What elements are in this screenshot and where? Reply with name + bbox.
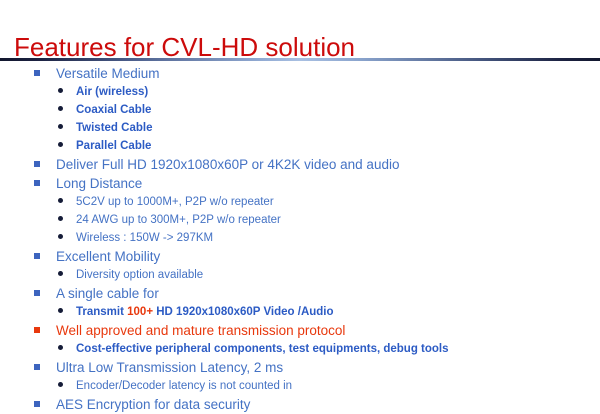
dot-bullet-glyph [58, 234, 63, 239]
bullet-item-level2: Diversity option available [0, 266, 600, 284]
bullet-text: Deliver Full HD 1920x1080x60P or 4K2K vi… [56, 155, 399, 174]
bullet-item-level2: Twisted Cable [0, 119, 600, 137]
bullet-text: Wireless : 150W -> 297KM [76, 229, 213, 247]
square-bullet-red-icon [34, 321, 56, 333]
bullet-item-level1: Versatile Medium [0, 64, 600, 83]
bullet-item-level2: Cost-effective peripheral components, te… [0, 340, 600, 358]
bullet-item-level1: Excellent Mobility [0, 247, 600, 266]
bullet-item-level2: Parallel Cable [0, 137, 600, 155]
dot-bullet-icon [58, 377, 76, 387]
dot-bullet-icon [58, 211, 76, 221]
bullet-list: Versatile MediumAir (wireless)Coaxial Ca… [0, 64, 600, 414]
square-bullet-blue-icon [34, 395, 56, 407]
bullet-text: Ultra Low Transmission Latency, 2 ms [56, 358, 283, 377]
bullet-item-level2: 24 AWG up to 300M+, P2P w/o repeater [0, 211, 600, 229]
square-bullet-blue-icon [34, 247, 56, 259]
dot-bullet-glyph [58, 88, 63, 93]
dot-bullet-icon [58, 229, 76, 239]
bullet-text: 24 AWG up to 300M+, P2P w/o repeater [76, 211, 281, 229]
dot-bullet-glyph [58, 216, 63, 221]
slide-canvas: Features for CVL-HD solution Versatile M… [0, 0, 600, 414]
square-bullet-blue-glyph [34, 70, 40, 76]
bullet-item-level1: A single cable for [0, 284, 600, 303]
plain-text: HD 1920x1080x60P Video /Audio [153, 306, 333, 318]
bullet-text: Excellent Mobility [56, 247, 160, 266]
dot-bullet-glyph [58, 106, 63, 111]
square-bullet-blue-glyph [34, 401, 40, 407]
bullet-text: Versatile Medium [56, 64, 160, 83]
bullet-text: Coaxial Cable [76, 101, 151, 119]
bullet-item-level1: Ultra Low Transmission Latency, 2 ms [0, 358, 600, 377]
bullet-text: Long Distance [56, 174, 142, 193]
bullet-text: Well approved and mature transmission pr… [56, 321, 345, 340]
dot-bullet-icon [58, 137, 76, 147]
dot-bullet-icon [58, 83, 76, 93]
bullet-text: AES Encryption for data security [56, 395, 250, 414]
bullet-text: A single cable for [56, 284, 159, 303]
dot-bullet-glyph [58, 198, 63, 203]
dot-bullet-icon [58, 101, 76, 111]
dot-bullet-glyph [58, 308, 63, 313]
highlight-text: 100+ [127, 306, 153, 318]
bullet-text: Air (wireless) [76, 83, 148, 101]
dot-bullet-icon [58, 119, 76, 129]
bullet-item-level2: Wireless : 150W -> 297KM [0, 229, 600, 247]
square-bullet-red-glyph [34, 327, 40, 333]
bullet-item-level2: Encoder/Decoder latency is not counted i… [0, 377, 600, 395]
bullet-item-level1: AES Encryption for data security [0, 395, 600, 414]
bullet-item-level2: Coaxial Cable [0, 101, 600, 119]
bullet-text: 5C2V up to 1000M+, P2P w/o repeater [76, 193, 274, 211]
bullet-text: Twisted Cable [76, 119, 152, 137]
square-bullet-blue-icon [34, 174, 56, 186]
bullet-item-level1: Well approved and mature transmission pr… [0, 321, 600, 340]
bullet-item-level1: Long Distance [0, 174, 600, 193]
dot-bullet-icon [58, 193, 76, 203]
bullet-text: Cost-effective peripheral components, te… [76, 340, 449, 358]
bullet-item-level2: 5C2V up to 1000M+, P2P w/o repeater [0, 193, 600, 211]
dot-bullet-icon [58, 303, 76, 313]
bullet-text: Parallel Cable [76, 137, 151, 155]
dot-bullet-glyph [58, 124, 63, 129]
title-divider [0, 58, 600, 61]
square-bullet-blue-icon [34, 64, 56, 76]
bullet-item-level2: Transmit 100+ HD 1920x1080x60P Video /Au… [0, 303, 600, 321]
dot-bullet-icon [58, 340, 76, 350]
dot-bullet-glyph [58, 142, 63, 147]
square-bullet-blue-icon [34, 155, 56, 167]
square-bullet-blue-glyph [34, 290, 40, 296]
square-bullet-blue-glyph [34, 253, 40, 259]
bullet-text: Transmit 100+ HD 1920x1080x60P Video /Au… [76, 303, 334, 321]
dot-bullet-glyph [58, 271, 63, 276]
plain-text: Transmit [76, 306, 127, 318]
bullet-item-level1: Deliver Full HD 1920x1080x60P or 4K2K vi… [0, 155, 600, 174]
bullet-item-level2: Air (wireless) [0, 83, 600, 101]
square-bullet-blue-glyph [34, 180, 40, 186]
dot-bullet-glyph [58, 382, 63, 387]
square-bullet-blue-glyph [34, 161, 40, 167]
square-bullet-blue-icon [34, 284, 56, 296]
square-bullet-blue-icon [34, 358, 56, 370]
dot-bullet-icon [58, 266, 76, 276]
bullet-text: Encoder/Decoder latency is not counted i… [76, 377, 292, 395]
square-bullet-blue-glyph [34, 364, 40, 370]
dot-bullet-glyph [58, 345, 63, 350]
bullet-text: Diversity option available [76, 266, 203, 284]
